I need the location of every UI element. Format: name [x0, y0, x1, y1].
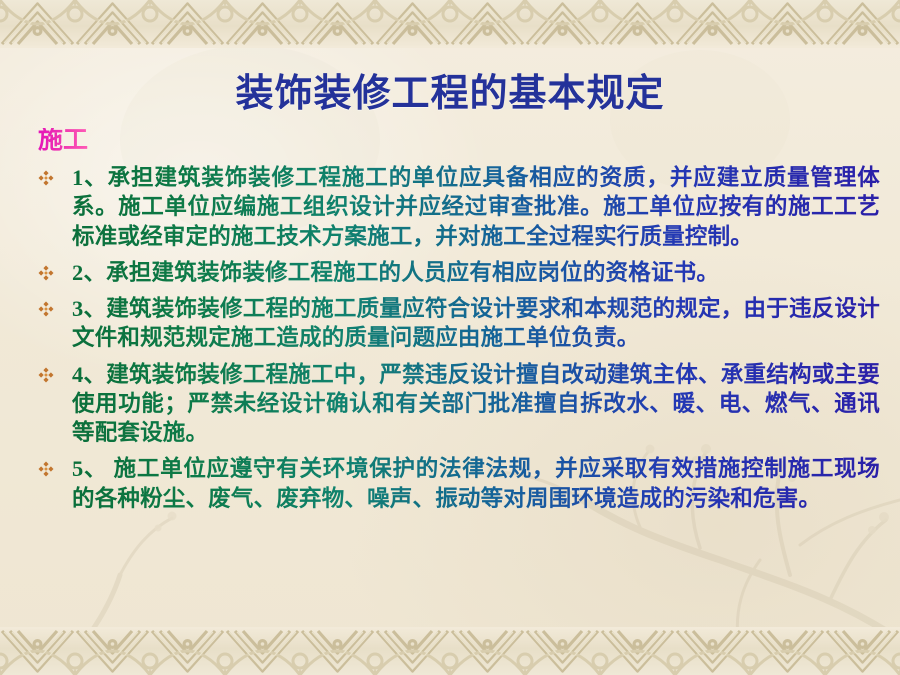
list-item: 2、承担建筑装饰装修工程施工的人员应有相应岗位的资格证书。: [34, 258, 880, 287]
diamond-bullet-icon: [38, 170, 54, 186]
slide-canvas: 装饰装修工程的基本规定 施工 1、承担建筑装饰装修工程: [0, 0, 900, 675]
list-item: 5、 施工单位应遵守有关环境保护的法律法规，并应采取有效措施控制施工现场的各种粉…: [34, 454, 880, 513]
list-item-text: 1、承担建筑装饰装修工程施工的单位应具备相应的资质，并应建立质量管理体系。施工单…: [72, 165, 880, 249]
diamond-bullet-icon: [38, 367, 54, 383]
section-heading: 施工: [38, 128, 88, 153]
list-item: 1、承担建筑装饰装修工程施工的单位应具备相应的资质，并应建立质量管理体系。施工单…: [34, 163, 880, 251]
ornamental-border-top: [0, 0, 900, 48]
list-item: 4、建筑装饰装修工程施工中，严禁违反设计擅自改动建筑主体、承重结构或主要使用功能…: [34, 360, 880, 448]
content-body: 施工 1、承担建筑装饰装修工程施工的单位应具备相应的资质，并应建立质量管理体系: [34, 128, 880, 520]
list-item-text: 3、建筑装饰装修工程的施工质量应符合设计要求和本规范的规定，由于违反设计文件和规…: [72, 296, 880, 350]
list-item-text: 4、建筑装饰装修工程施工中，严禁违反设计擅自改动建筑主体、承重结构或主要使用功能…: [72, 362, 880, 446]
diamond-bullet-icon: [38, 265, 54, 281]
list-item-text: 2、承担建筑装饰装修工程施工的人员应有相应岗位的资格证书。: [72, 260, 719, 285]
diamond-bullet-icon: [38, 461, 54, 477]
list-item-text: 5、 施工单位应遵守有关环境保护的法律法规，并应采取有效措施控制施工现场的各种粉…: [72, 456, 880, 510]
regulation-bullet-list: 1、承担建筑装饰装修工程施工的单位应具备相应的资质，并应建立质量管理体系。施工单…: [34, 163, 880, 513]
ornamental-border-bottom: [0, 627, 900, 675]
page-title: 装饰装修工程的基本规定: [0, 62, 900, 117]
diamond-bullet-icon: [38, 301, 54, 317]
list-item: 3、建筑装饰装修工程的施工质量应符合设计要求和本规范的规定，由于违反设计文件和规…: [34, 294, 880, 353]
